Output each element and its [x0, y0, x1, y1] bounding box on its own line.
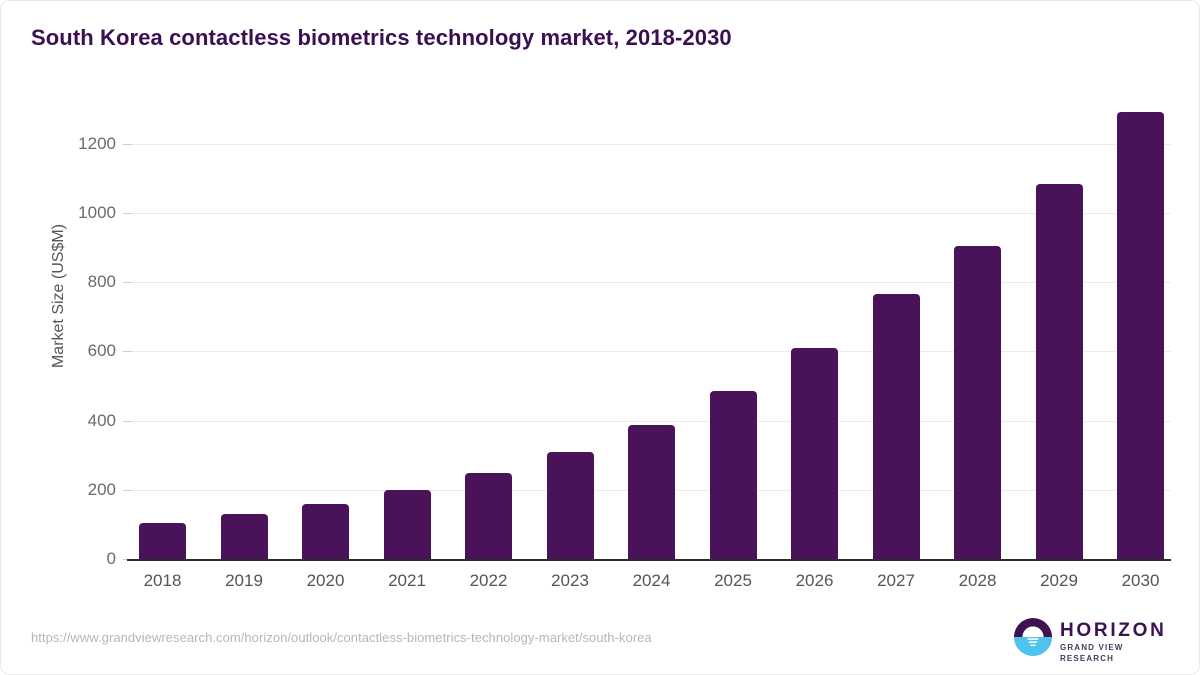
x-tick-label-2022: 2022 [449, 571, 529, 591]
y-tick-label: 1000 [46, 203, 116, 223]
x-tick-label-2020: 2020 [286, 571, 366, 591]
logo-text-block: HORIZON GRAND VIEW RESEARCH [1060, 621, 1175, 664]
y-tick-mark [123, 282, 132, 283]
horizon-globe-icon [1013, 617, 1053, 657]
bar-2027[interactable] [873, 294, 920, 559]
y-tick-label: 200 [46, 480, 116, 500]
y-tick-mark [123, 421, 132, 422]
x-tick-label-2025: 2025 [693, 571, 773, 591]
chart-page: South Korea contactless biometrics techn… [0, 0, 1200, 675]
x-tick-label-2021: 2021 [367, 571, 447, 591]
gridline [131, 144, 1171, 145]
y-tick-label: 1200 [46, 134, 116, 154]
gridline [131, 213, 1171, 214]
x-axis-line [127, 559, 1171, 561]
chart-plot-area: Market Size (US$M) 020040060080010001200… [1, 1, 1200, 675]
x-tick-label-2023: 2023 [530, 571, 610, 591]
y-tick-mark [123, 213, 132, 214]
gridline [131, 282, 1171, 283]
bar-2019[interactable] [221, 514, 268, 559]
bar-2029[interactable] [1036, 184, 1083, 559]
x-tick-label-2028: 2028 [938, 571, 1018, 591]
bar-2023[interactable] [547, 452, 594, 559]
x-tick-label-2030: 2030 [1101, 571, 1181, 591]
bar-2026[interactable] [791, 348, 838, 559]
logo-wordmark: HORIZON [1060, 621, 1175, 641]
x-tick-label-2024: 2024 [612, 571, 692, 591]
y-tick-label: 800 [46, 272, 116, 292]
x-tick-label-2019: 2019 [204, 571, 284, 591]
bar-2030[interactable] [1117, 112, 1164, 559]
x-tick-label-2026: 2026 [775, 571, 855, 591]
bar-2021[interactable] [384, 490, 431, 559]
y-tick-mark [123, 351, 132, 352]
source-url[interactable]: https://www.grandviewresearch.com/horizo… [31, 630, 652, 645]
y-tick-label: 600 [46, 341, 116, 361]
logo-subtitle: GRAND VIEW RESEARCH [1060, 642, 1175, 664]
bar-2025[interactable] [710, 391, 757, 559]
x-tick-label-2029: 2029 [1019, 571, 1099, 591]
bar-2024[interactable] [628, 425, 675, 559]
bar-2018[interactable] [139, 523, 186, 559]
gridline [131, 351, 1171, 352]
bar-2028[interactable] [954, 246, 1001, 559]
bar-2020[interactable] [302, 504, 349, 559]
x-tick-label-2027: 2027 [856, 571, 936, 591]
bar-2022[interactable] [465, 473, 512, 559]
horizon-logo[interactable]: HORIZON GRAND VIEW RESEARCH [1013, 615, 1173, 659]
y-tick-mark [123, 490, 132, 491]
y-tick-label: 0 [46, 549, 116, 569]
y-tick-label: 400 [46, 411, 116, 431]
x-tick-label-2018: 2018 [123, 571, 203, 591]
y-tick-mark [123, 144, 132, 145]
gridline [131, 421, 1171, 422]
